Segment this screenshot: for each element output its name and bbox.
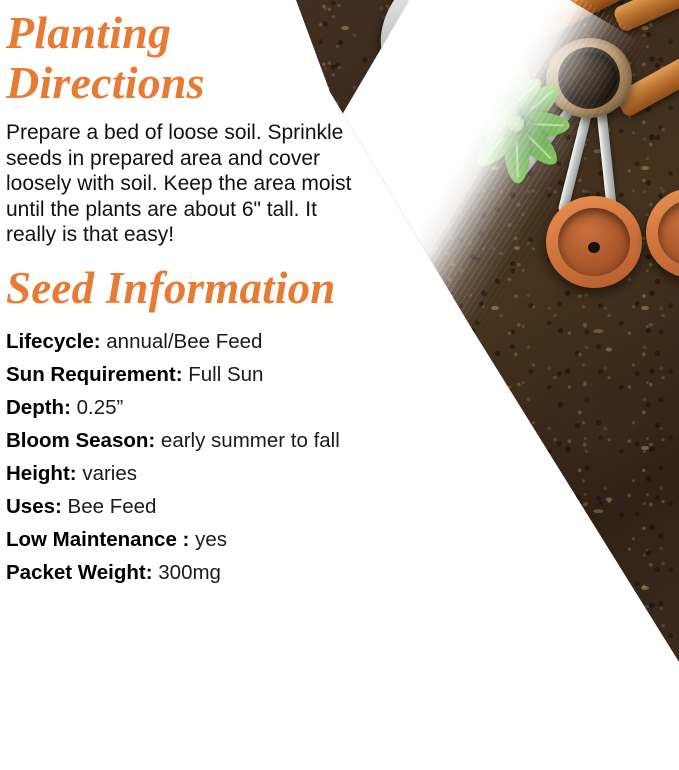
spec-value: 0.25” — [77, 396, 124, 419]
spec-label: Low Maintenance : — [6, 528, 189, 551]
spec-value: varies — [82, 462, 137, 485]
list-item: Low Maintenance : yes — [6, 523, 476, 556]
spec-label: Lifecycle: — [6, 330, 101, 353]
spec-value: Bee Feed — [68, 495, 157, 518]
spec-label: Height: — [6, 462, 77, 485]
spec-value: early summer to fall — [161, 429, 340, 452]
spec-value: 300mg — [158, 561, 221, 584]
spec-label: Uses: — [6, 495, 62, 518]
info-text-column: Planting Directions Prepare a bed of loo… — [0, 0, 679, 685]
seed-information-list: Lifecycle: annual/Bee Feed Sun Requireme… — [6, 325, 476, 589]
planting-directions-title: Planting Directions — [6, 8, 306, 108]
spec-value: annual/Bee Feed — [106, 330, 262, 353]
planting-directions-title-line-1: Planting — [6, 8, 306, 58]
seed-information-title: Seed Information — [6, 262, 336, 314]
list-item: Bloom Season: early summer to fall — [6, 424, 476, 457]
spec-value: yes — [195, 528, 227, 551]
list-item: Depth: 0.25” — [6, 391, 476, 424]
list-item: Uses: Bee Feed — [6, 490, 476, 523]
spec-value: Full Sun — [188, 363, 263, 386]
list-item: Sun Requirement: Full Sun — [6, 358, 476, 391]
planting-directions-body-text: Prepare a bed of loose soil. Sprinkle se… — [6, 120, 354, 248]
list-item: Lifecycle: annual/Bee Feed — [6, 325, 476, 358]
list-item: Height: varies — [6, 457, 476, 490]
planting-directions-title-line-2: Directions — [6, 58, 306, 108]
spec-label: Packet Weight: — [6, 561, 153, 584]
list-item: Packet Weight: 300mg — [6, 556, 476, 589]
spec-label: Bloom Season: — [6, 429, 155, 452]
spec-label: Depth: — [6, 396, 71, 419]
spec-label: Sun Requirement: — [6, 363, 183, 386]
